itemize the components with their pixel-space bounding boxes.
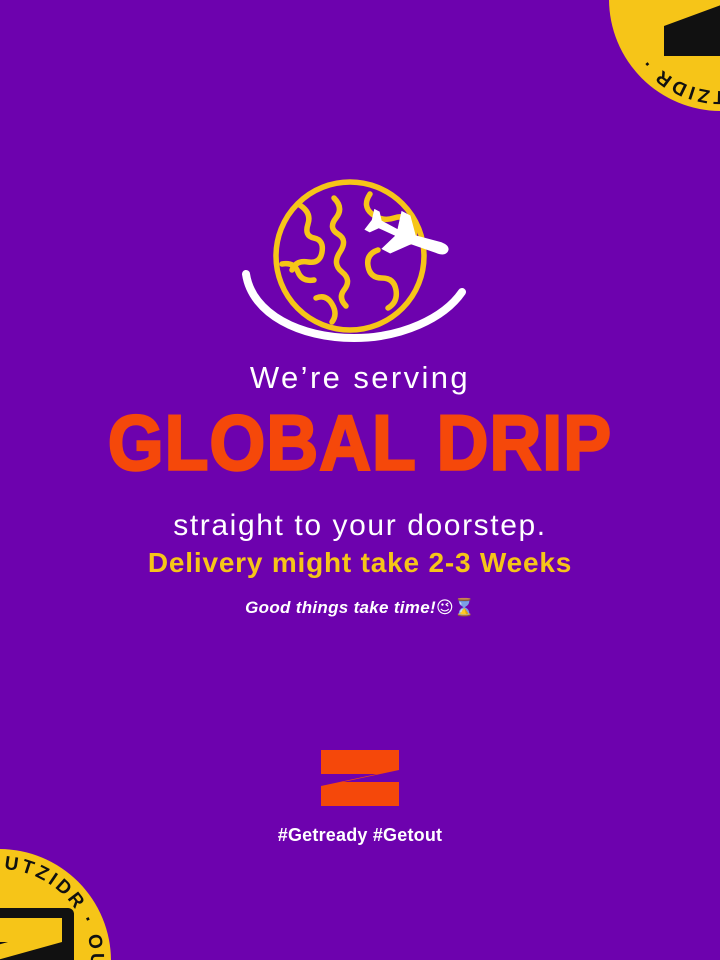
headline-eyebrow: We’re serving: [0, 362, 720, 393]
wink-hourglass-emoji: 😉⌛: [436, 598, 475, 618]
delivery-headline: Delivery might take 2-3 Weeks: [0, 549, 720, 577]
globe-with-airplane-icon: [238, 168, 482, 344]
promo-poster: We’re serving GLOBAL DRIP straight to yo…: [0, 0, 720, 960]
badge-bottom-left: OUTZIDR · OUTZIDR · OUTZIDR · OUTZIDR · …: [0, 846, 114, 960]
badge-top-right: OUTZIDR · OUTZIDR · OUTZIDR · OUTZIDR ·: [606, 0, 720, 114]
delivery-subtext-label: Good things take time!: [245, 598, 436, 617]
outzidr-z-logo-icon: [317, 748, 403, 808]
headline-block: We’re serving GLOBAL DRIP straight to yo…: [0, 362, 720, 541]
delivery-notice: Delivery might take 2-3 Weeks Good thing…: [0, 549, 720, 617]
brand-hashtags: #Getready #Getout: [0, 826, 720, 844]
page-title: GLOBAL DRIP: [0, 405, 720, 483]
delivery-subtext: Good things take time!😉⌛: [0, 599, 720, 617]
headline-subtitle: straight to your doorstep.: [0, 511, 720, 541]
brand-lockup: #Getready #Getout: [0, 748, 720, 844]
